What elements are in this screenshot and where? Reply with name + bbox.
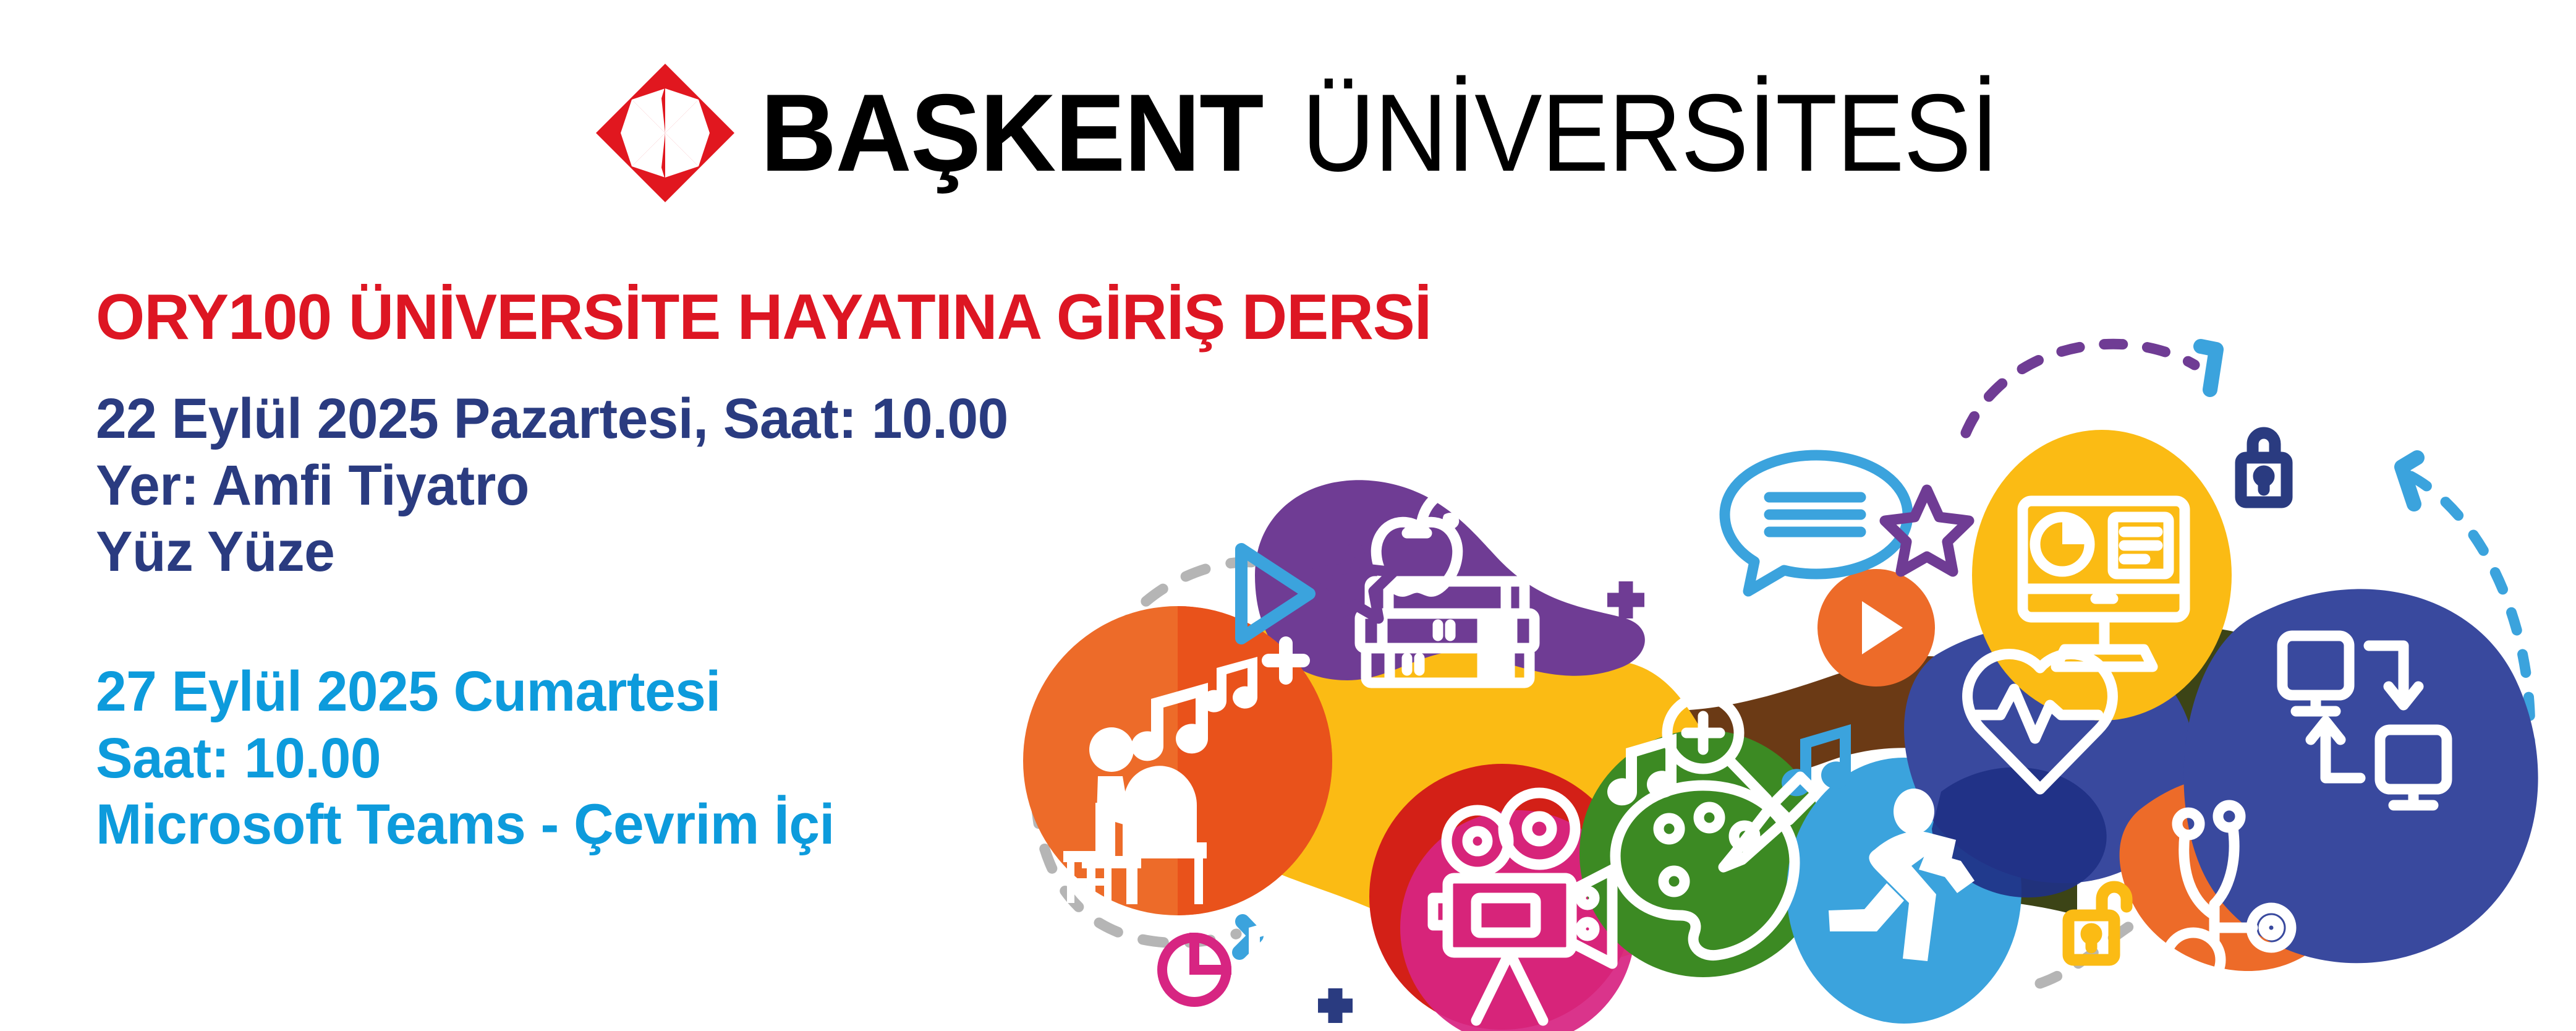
lock-open-icon	[2068, 887, 2127, 960]
session-line-time-online: Saat: 10.00	[96, 725, 1031, 792]
course-title: ORY100 ÜNİVERSİTE HAYATINA GİRİŞ DERSİ	[96, 284, 1041, 350]
arrow-tip-icon	[2201, 346, 2216, 390]
dashed-path-icon	[1966, 344, 2195, 433]
session-line-mode: Yüz Yüze	[96, 519, 1031, 586]
session-line-date: 22 Eylül 2025 Pazartesi, Saat: 10.00	[96, 386, 1031, 453]
blob-yellow-monitor	[1972, 430, 2232, 721]
info-column: ORY100 ÜNİVERSİTE HAYATINA GİRİŞ DERSİ 2…	[96, 284, 1060, 858]
star-outline-icon	[1885, 490, 1969, 571]
brand-name-light: ÜNİVERSİTESİ	[1302, 78, 1998, 188]
brand-wordmark: BAŞKENT ÜNİVERSİTESİ	[760, 78, 2059, 188]
education-topics-collage	[989, 272, 2576, 1031]
plus-icon	[1607, 581, 1644, 618]
session-block-online: 27 Eylül 2025 Cumartesi Saat: 10.00 Micr…	[96, 659, 1060, 858]
session-line-platform-online: Microsoft Teams - Çevrim İçi	[96, 792, 1031, 858]
lock-closed-icon	[2241, 433, 2287, 502]
brand-header: BAŞKENT ÜNİVERSİTESİ	[593, 68, 2059, 198]
baskent-diamond-logo-icon	[593, 61, 737, 205]
brand-name-bold: BAŞKENT	[760, 78, 1263, 188]
pie-chart-icon	[1162, 938, 1226, 1002]
session-block-face-to-face: 22 Eylül 2025 Pazartesi, Saat: 10.00 Yer…	[96, 386, 1060, 586]
session-line-venue: Yer: Amfi Tiyatro	[96, 453, 1031, 520]
session-line-date-online: 27 Eylül 2025 Cumartesi	[96, 659, 1031, 725]
poster-canvas: BAŞKENT ÜNİVERSİTESİ ORY100 ÜNİVERSİTE H…	[0, 0, 2576, 1031]
plus-icon	[1318, 988, 1353, 1023]
